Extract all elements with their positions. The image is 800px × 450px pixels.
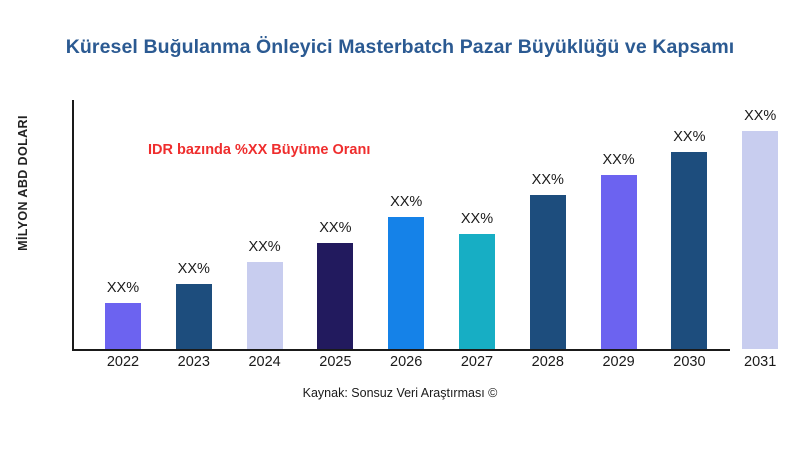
bar-value-label-2029: XX% [579,152,659,168]
x-tick-2027: 2027 [437,354,517,370]
x-tick-2024: 2024 [225,354,305,370]
x-tick-2029: 2029 [579,354,659,370]
bar-value-label-2031: XX% [720,108,800,124]
x-tick-2028: 2028 [508,354,588,370]
bar-2025[interactable] [317,243,353,349]
bar-2027[interactable] [459,234,495,349]
bar-2029[interactable] [601,175,637,349]
bar-2030[interactable] [671,152,707,349]
x-tick-2023: 2023 [154,354,234,370]
bar-2028[interactable] [530,195,566,349]
plot-area: XX%XX%XX%XX%XX%XX%XX%XX%XX%XX% 202220232… [0,0,800,450]
bar-value-label-2030: XX% [649,129,729,145]
x-tick-2026: 2026 [366,354,446,370]
bar-value-label-2023: XX% [154,261,234,277]
x-tick-2025: 2025 [295,354,375,370]
bar-2024[interactable] [247,262,283,349]
bar-value-label-2026: XX% [366,194,446,210]
bar-2031[interactable] [742,131,778,349]
bar-value-label-2028: XX% [508,172,588,188]
y-axis-line [72,100,74,350]
bar-value-label-2025: XX% [295,220,375,236]
source-caption: Kaynak: Sonsuz Veri Araştırması © [0,386,800,400]
bar-2026[interactable] [388,217,424,349]
bar-value-label-2024: XX% [225,239,305,255]
x-tick-2022: 2022 [83,354,163,370]
x-tick-2030: 2030 [649,354,729,370]
chart-container: Küresel Buğulanma Önleyici Masterbatch P… [0,0,800,450]
x-axis-line [72,349,730,351]
bar-value-label-2027: XX% [437,211,517,227]
bar-2023[interactable] [176,284,212,349]
x-tick-2031: 2031 [720,354,800,370]
bar-value-label-2022: XX% [83,280,163,296]
bar-2022[interactable] [105,303,141,349]
